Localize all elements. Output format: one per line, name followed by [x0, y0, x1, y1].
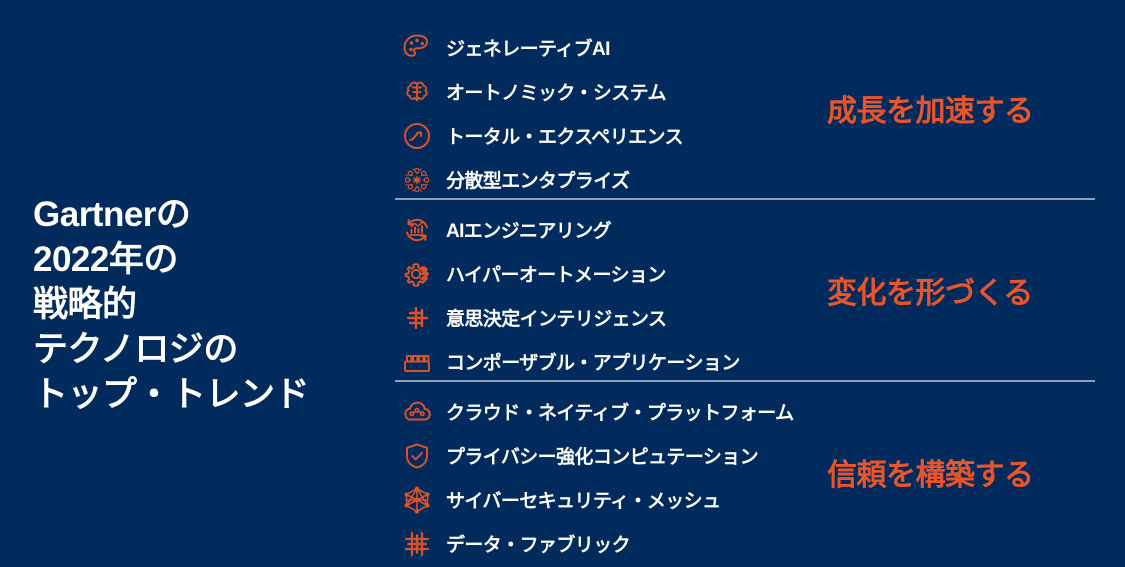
fabric-grid-icon: [395, 525, 439, 563]
trend-item-composable-applications[interactable]: コンポーザブル・アプリケーション: [395, 341, 815, 382]
trend-group-build-trust: クラウド・ネイティブ・プラットフォーム プライバシー強化コンピュテーション: [395, 380, 1095, 562]
trend-item-hyperautomation[interactable]: ハイパーオートメーション: [395, 253, 815, 294]
cloud-nodes-icon: [395, 393, 439, 431]
mesh-network-icon: [395, 481, 439, 519]
title-line-4: テクノロジの: [33, 327, 363, 372]
trend-label: 分散型エンタプライズ: [446, 166, 629, 193]
trend-item-total-experience[interactable]: トータル・エクスペリエンス: [395, 115, 815, 156]
palette-icon: [395, 29, 439, 67]
trend-label: ジェネレーティブAI: [446, 34, 610, 61]
slide-canvas: Gartnerの 2022年の 戦略的 テクノロジの トップ・トレンド: [0, 0, 1125, 561]
trend-item-data-fabric[interactable]: データ・ファブリック: [395, 523, 815, 564]
group-heading-3: 信頼を構築する: [827, 450, 1034, 494]
trend-label: クラウド・ネイティブ・プラットフォーム: [446, 398, 794, 425]
trend-label: トータル・エクスペリエンス: [446, 122, 683, 149]
trend-item-cloud-native-platforms[interactable]: クラウド・ネイティブ・プラットフォーム: [395, 391, 815, 432]
group-heading-2: 変化を形づくる: [827, 268, 1033, 312]
trend-label: データ・ファブリック: [446, 530, 630, 557]
title-line-1: Gartnerの: [33, 192, 363, 237]
arrow-circle-icon: [395, 117, 439, 155]
brain-icon: [395, 73, 439, 111]
trend-item-autonomic-systems[interactable]: オートノミック・システム: [395, 71, 815, 112]
shield-check-icon: [395, 437, 439, 475]
title-line-5: トップ・トレンド: [33, 372, 363, 417]
trend-label: サイバーセキュリティ・メッシュ: [446, 486, 720, 513]
trend-list-3: クラウド・ネイティブ・プラットフォーム プライバシー強化コンピュテーション: [395, 382, 815, 567]
trend-item-ai-engineering[interactable]: AIエンジニアリング: [395, 209, 815, 250]
trend-list-1: ジェネレーティブAI オートノミック・システム: [395, 18, 815, 203]
trend-item-generative-ai[interactable]: ジェネレーティブAI: [395, 27, 815, 68]
trend-label: AIエンジニアリング: [446, 216, 611, 243]
group-heading-1: 成長を加速する: [827, 86, 1034, 130]
trend-group-sculpt-change: AIエンジニアリング ハイパーオートメーション: [395, 198, 1095, 380]
title-line-3: 戦略的: [33, 282, 363, 327]
trend-label: プライバシー強化コンピュテーション: [446, 442, 758, 469]
trend-label: 意思決定インテリジェンス: [446, 304, 666, 331]
trend-groups: ジェネレーティブAI オートノミック・システム: [395, 18, 1095, 562]
trend-label: コンポーザブル・アプリケーション: [446, 348, 740, 375]
trend-item-distributed-enterprise[interactable]: 分散型エンタプライズ: [395, 159, 815, 200]
trend-item-privacy-enhancing-computation[interactable]: プライバシー強化コンピュテーション: [395, 435, 815, 476]
trend-label: オートノミック・システム: [446, 78, 666, 105]
decision-tree-icon: [395, 299, 439, 337]
title-line-2: 2022年の: [33, 237, 363, 282]
page-title: Gartnerの 2022年の 戦略的 テクノロジの トップ・トレンド: [33, 192, 363, 417]
trend-label: ハイパーオートメーション: [446, 260, 666, 287]
trend-item-cybersecurity-mesh[interactable]: サイバーセキュリティ・メッシュ: [395, 479, 815, 520]
building-blocks-icon: [395, 343, 439, 381]
trend-group-accelerate-growth: ジェネレーティブAI オートノミック・システム: [395, 18, 1095, 198]
distributed-nodes-icon: [395, 161, 439, 199]
trend-item-decision-intelligence[interactable]: 意思決定インテリジェンス: [395, 297, 815, 338]
trend-list-2: AIエンジニアリング ハイパーオートメーション: [395, 200, 815, 385]
gear-arrows-icon: [395, 255, 439, 293]
refresh-chart-icon: [395, 211, 439, 249]
